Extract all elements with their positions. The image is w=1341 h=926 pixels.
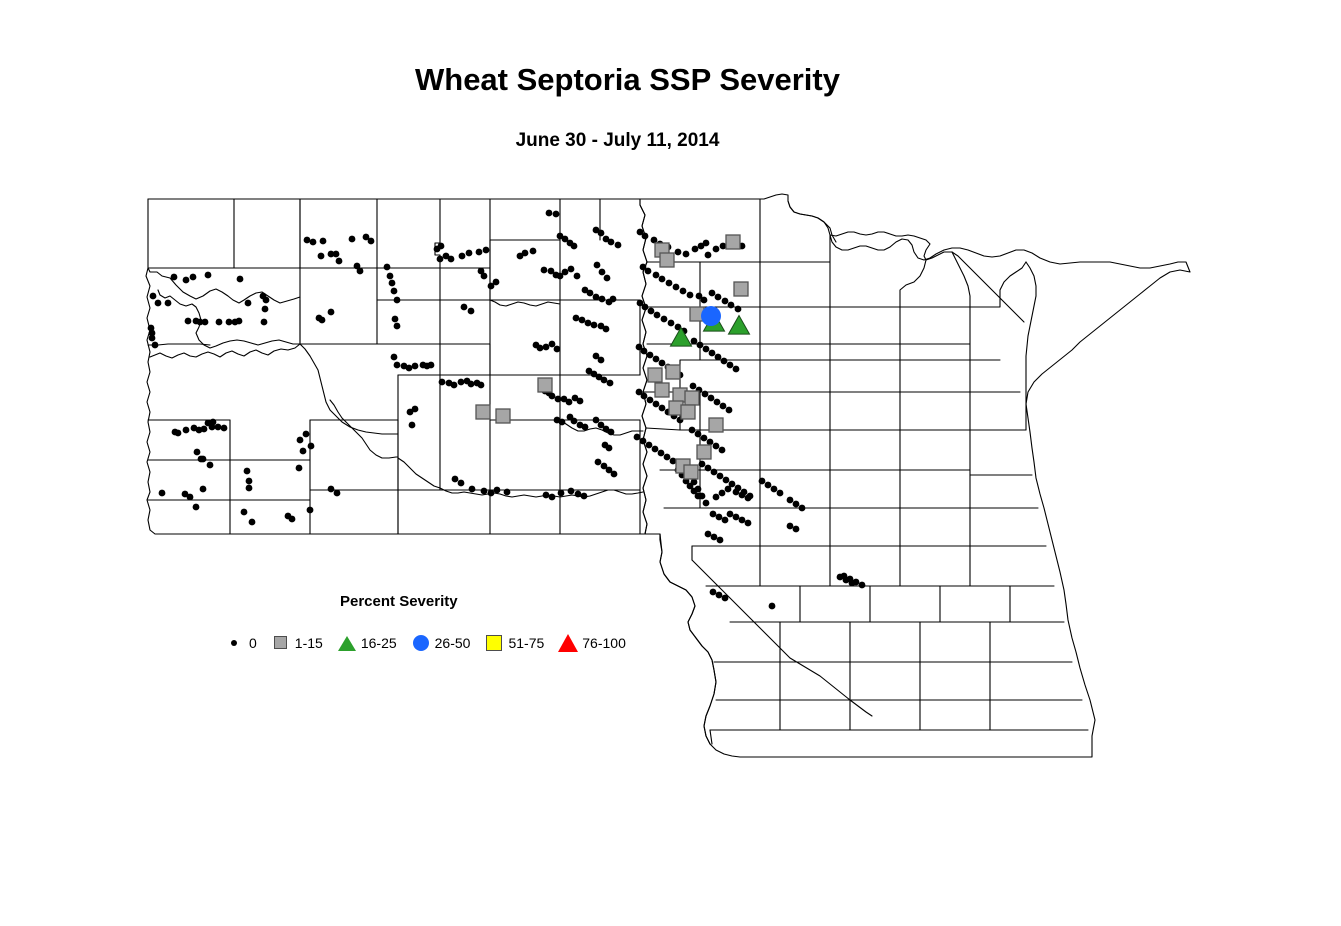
data-point-0 — [202, 319, 209, 326]
data-point-16-25 — [728, 315, 749, 334]
data-point-0 — [720, 403, 727, 410]
data-point-0 — [185, 318, 192, 325]
data-point-1-15 — [726, 235, 740, 249]
map-svg — [0, 0, 1341, 926]
data-point-0 — [328, 486, 335, 493]
data-point-0 — [715, 354, 722, 361]
data-point-0 — [493, 279, 500, 286]
data-point-0 — [593, 294, 600, 301]
data-point-0 — [599, 269, 606, 276]
data-point-0 — [691, 338, 698, 345]
data-point-0 — [647, 352, 654, 359]
data-point-0 — [615, 242, 622, 249]
data-point-0 — [728, 302, 735, 309]
data-point-0 — [559, 419, 566, 426]
data-point-0 — [389, 280, 396, 287]
data-point-0 — [175, 430, 182, 437]
data-point-0 — [711, 534, 718, 541]
data-point-0 — [319, 317, 326, 324]
data-point-0 — [695, 486, 702, 493]
data-point-0 — [384, 264, 391, 271]
data-point-0 — [793, 501, 800, 508]
legend-label-16-25: 16-25 — [361, 635, 397, 651]
data-point-0 — [568, 266, 575, 273]
data-point-1-15 — [660, 253, 674, 267]
data-point-0 — [207, 462, 214, 469]
data-point-0 — [739, 517, 746, 524]
data-point-0 — [571, 418, 578, 425]
legend-label-26-50: 26-50 — [435, 635, 471, 651]
data-point-0 — [659, 276, 666, 283]
legend-label-1-15: 1-15 — [295, 635, 323, 651]
data-point-0 — [733, 514, 740, 521]
data-point-0 — [607, 380, 614, 387]
data-point-0 — [666, 280, 673, 287]
data-point-0 — [368, 238, 375, 245]
legend-label-0: 0 — [249, 635, 257, 651]
data-point-0 — [711, 469, 718, 476]
data-point-0 — [468, 308, 475, 315]
legend-title: Percent Severity — [340, 593, 458, 610]
data-point-0 — [297, 437, 304, 444]
data-point-0 — [201, 426, 208, 433]
data-point-0 — [610, 296, 617, 303]
data-point-0 — [722, 595, 729, 602]
data-point-0 — [709, 350, 716, 357]
red-triangle-icon — [558, 633, 578, 653]
data-point-0 — [392, 316, 399, 323]
data-point-0 — [721, 358, 728, 365]
data-point-0 — [587, 290, 594, 297]
data-point-0 — [787, 523, 794, 530]
data-point-0 — [611, 471, 618, 478]
data-point-0 — [713, 494, 720, 501]
black-dot-icon — [225, 633, 245, 653]
data-point-0 — [739, 492, 746, 499]
data-point-0 — [601, 377, 608, 384]
data-point-0 — [194, 449, 201, 456]
data-point-0 — [246, 485, 253, 492]
data-point-0 — [336, 258, 343, 265]
data-point-0 — [725, 486, 732, 493]
data-point-0 — [703, 346, 710, 353]
data-point-0 — [200, 486, 207, 493]
data-point-0 — [654, 312, 661, 319]
data-point-0 — [152, 342, 159, 349]
data-point-0 — [593, 417, 600, 424]
data-point-0 — [554, 346, 561, 353]
data-point-0 — [717, 473, 724, 480]
data-point-0 — [653, 356, 660, 363]
data-point-0 — [476, 249, 483, 256]
data-point-0 — [713, 443, 720, 450]
data-point-0 — [307, 507, 314, 514]
data-point-0 — [562, 269, 569, 276]
data-point-0 — [394, 362, 401, 369]
data-point-0 — [659, 360, 666, 367]
data-point-0 — [504, 489, 511, 496]
data-point-0 — [549, 393, 556, 400]
data-point-0 — [647, 397, 654, 404]
data-point-0 — [448, 256, 455, 263]
data-point-0 — [722, 298, 729, 305]
data-point-0 — [859, 582, 866, 589]
data-point-0 — [458, 379, 465, 386]
data-point-0 — [320, 238, 327, 245]
data-point-0 — [733, 366, 740, 373]
data-point-0 — [705, 252, 712, 259]
data-point-0 — [187, 494, 194, 501]
data-point-0 — [149, 335, 156, 342]
data-point-0 — [558, 490, 565, 497]
data-point-0 — [577, 398, 584, 405]
legend-label-76-100: 76-100 — [582, 635, 626, 651]
data-point-0 — [604, 275, 611, 282]
data-point-0 — [409, 422, 416, 429]
data-point-0 — [608, 429, 615, 436]
data-point-0 — [683, 251, 690, 258]
data-point-0 — [183, 427, 190, 434]
data-point-0 — [653, 272, 660, 279]
gray-square-icon — [271, 633, 291, 653]
data-point-0 — [849, 580, 856, 587]
data-point-0 — [690, 383, 697, 390]
data-point-0 — [483, 247, 490, 254]
data-point-0 — [546, 210, 553, 217]
data-point-0 — [727, 511, 734, 518]
data-point-0 — [641, 348, 648, 355]
data-point-0 — [692, 246, 699, 253]
data-point-0 — [659, 405, 666, 412]
yellow-square-icon — [484, 633, 504, 653]
data-point-0 — [703, 500, 710, 507]
data-point-0 — [673, 284, 680, 291]
data-point-0 — [642, 304, 649, 311]
data-point-1-15 — [734, 282, 748, 296]
data-point-0 — [357, 268, 364, 275]
data-point-0 — [262, 306, 269, 313]
data-point-0 — [599, 296, 606, 303]
data-point-0 — [549, 341, 556, 348]
data-point-0 — [771, 486, 778, 493]
data-point-0 — [582, 424, 589, 431]
data-point-0 — [296, 465, 303, 472]
data-point-0 — [573, 315, 580, 322]
data-point-0 — [452, 476, 459, 483]
data-point-0 — [349, 236, 356, 243]
data-point-0 — [708, 395, 715, 402]
data-point-1-15 — [697, 445, 711, 459]
data-point-0 — [689, 427, 696, 434]
data-point-0 — [300, 448, 307, 455]
data-point-0 — [645, 268, 652, 275]
data-point-0 — [469, 486, 476, 493]
data-point-0 — [394, 297, 401, 304]
data-point-0 — [722, 517, 729, 524]
data-point-0 — [549, 494, 556, 501]
data-point-0 — [591, 322, 598, 329]
green-triangle-icon — [337, 633, 357, 653]
data-point-0 — [263, 297, 270, 304]
data-point-0 — [318, 253, 325, 260]
data-point-0 — [769, 603, 776, 610]
data-point-0 — [439, 379, 446, 386]
data-point-1-15 — [655, 383, 669, 397]
data-point-0 — [261, 319, 268, 326]
data-point-0 — [328, 309, 335, 316]
data-point-1-15 — [476, 405, 490, 419]
data-point-0 — [581, 493, 588, 500]
data-point-0 — [566, 399, 573, 406]
data-point-0 — [703, 240, 710, 247]
data-point-0 — [437, 256, 444, 263]
data-point-0 — [595, 459, 602, 466]
data-point-0 — [150, 293, 157, 300]
data-point-0 — [221, 425, 228, 432]
data-point-0 — [843, 577, 850, 584]
data-point-0 — [710, 589, 717, 596]
data-point-0 — [246, 478, 253, 485]
data-point-0 — [537, 345, 544, 352]
data-point-0 — [745, 495, 752, 502]
data-point-1-15 — [666, 365, 680, 379]
map-canvas — [0, 0, 1341, 926]
data-point-0 — [216, 319, 223, 326]
data-point-1-15 — [685, 391, 699, 405]
data-point-0 — [702, 391, 709, 398]
data-point-0 — [687, 292, 694, 299]
data-point-0 — [245, 300, 252, 307]
data-point-0 — [680, 288, 687, 295]
data-point-0 — [799, 505, 806, 512]
data-point-0 — [237, 276, 244, 283]
legend-entry-16-25[interactable]: 16-25 — [337, 633, 397, 653]
data-point-0 — [642, 233, 649, 240]
data-point-0 — [759, 478, 766, 485]
data-point-0 — [837, 574, 844, 581]
data-point-0 — [530, 248, 537, 255]
data-point-0 — [640, 438, 647, 445]
legend-label-51-75: 51-75 — [508, 635, 544, 651]
data-point-0 — [701, 435, 708, 442]
data-point-1-15 — [496, 409, 510, 423]
data-point-0 — [468, 381, 475, 388]
legend-entry-76-100[interactable]: 76-100 — [558, 633, 626, 653]
data-point-0 — [727, 362, 734, 369]
data-point-0 — [543, 344, 550, 351]
data-point-0 — [697, 342, 704, 349]
data-point-0 — [303, 431, 310, 438]
data-point-0 — [723, 477, 730, 484]
data-point-1-15 — [684, 465, 698, 479]
data-point-0 — [244, 468, 251, 475]
data-point-0 — [710, 511, 717, 518]
data-point-0 — [458, 480, 465, 487]
data-point-0 — [695, 431, 702, 438]
data-point-0 — [226, 319, 233, 326]
legend-entries: 0 1-15 16-25 26-50 51-75 76-100 — [225, 630, 640, 656]
data-point-0 — [461, 304, 468, 311]
data-point-0 — [481, 488, 488, 495]
data-point-0 — [193, 504, 200, 511]
data-point-0 — [334, 490, 341, 497]
data-point-0 — [568, 488, 575, 495]
data-point-0 — [428, 362, 435, 369]
data-point-0 — [198, 456, 205, 463]
data-point-0 — [733, 489, 740, 496]
data-point-0 — [478, 382, 485, 389]
data-point-0 — [668, 320, 675, 327]
data-point-0 — [574, 273, 581, 280]
data-point-0 — [466, 250, 473, 257]
data-point-0 — [481, 273, 488, 280]
data-point-0 — [304, 237, 311, 244]
data-point-0 — [459, 253, 466, 260]
data-point-0 — [438, 243, 445, 250]
data-point-0 — [412, 363, 419, 370]
data-point-0 — [210, 419, 217, 426]
data-point-0 — [653, 401, 660, 408]
data-point-26-50 — [701, 306, 721, 326]
data-point-0 — [715, 294, 722, 301]
data-point-0 — [236, 318, 243, 325]
data-point-1-15 — [648, 368, 662, 382]
data-point-0 — [155, 300, 162, 307]
data-point-0 — [658, 450, 665, 457]
data-point-0 — [716, 592, 723, 599]
data-point-0 — [709, 290, 716, 297]
data-point-0 — [634, 434, 641, 441]
data-point-0 — [675, 249, 682, 256]
blue-circle-icon — [411, 633, 431, 653]
data-point-1-15 — [681, 405, 695, 419]
legend-entry-51-75[interactable]: 51-75 — [484, 633, 544, 653]
data-point-0 — [391, 354, 398, 361]
data-point-0 — [171, 274, 178, 281]
data-point-0 — [205, 272, 212, 279]
data-point-0 — [183, 277, 190, 284]
data-point-0 — [522, 250, 529, 257]
data-point-0 — [333, 251, 340, 258]
data-point-0 — [603, 326, 610, 333]
data-point-0 — [765, 482, 772, 489]
data-point-0 — [705, 531, 712, 538]
data-point-0 — [641, 393, 648, 400]
data-point-0 — [714, 399, 721, 406]
data-point-0 — [488, 490, 495, 497]
data-point-0 — [451, 382, 458, 389]
data-point-0 — [215, 424, 222, 431]
data-point-0 — [543, 492, 550, 499]
data-point-0 — [394, 323, 401, 330]
data-point-0 — [713, 246, 720, 253]
data-point-0 — [575, 491, 582, 498]
data-point-0 — [494, 487, 501, 494]
data-point-0 — [793, 526, 800, 533]
data-point-0 — [646, 442, 653, 449]
data-point-0 — [648, 308, 655, 315]
data-point-0 — [585, 320, 592, 327]
data-point-0 — [406, 365, 413, 372]
data-points-severity-26-50 — [701, 306, 721, 326]
data-point-0 — [719, 447, 726, 454]
data-point-0 — [716, 514, 723, 521]
data-point-0 — [412, 406, 419, 413]
data-point-0 — [719, 490, 726, 497]
data-point-0 — [661, 316, 668, 323]
data-point-0 — [606, 445, 613, 452]
legend-entry-0[interactable]: 0 — [225, 633, 257, 653]
data-point-0 — [608, 239, 615, 246]
data-point-0 — [310, 239, 317, 246]
data-point-0 — [190, 274, 197, 281]
data-point-0 — [579, 317, 586, 324]
map-legend: Percent Severity 0 1-15 16-25 26-50 51-7… — [225, 590, 645, 670]
data-point-0 — [289, 516, 296, 523]
legend-entry-26-50[interactable]: 26-50 — [411, 633, 471, 653]
data-point-0 — [541, 267, 548, 274]
data-point-0 — [705, 465, 712, 472]
data-point-0 — [777, 490, 784, 497]
data-point-0 — [391, 288, 398, 295]
data-point-16-25 — [670, 327, 691, 346]
data-point-0 — [699, 461, 706, 468]
legend-entry-1-15[interactable]: 1-15 — [271, 633, 323, 653]
data-point-0 — [699, 493, 706, 500]
data-point-0 — [165, 300, 172, 307]
data-point-0 — [555, 396, 562, 403]
county-boundaries — [146, 194, 1190, 757]
data-point-0 — [553, 211, 560, 218]
data-point-0 — [159, 490, 166, 497]
data-point-0 — [735, 306, 742, 313]
data-point-0 — [594, 262, 601, 269]
data-point-0 — [745, 520, 752, 527]
data-point-0 — [571, 243, 578, 250]
data-point-1-15 — [709, 418, 723, 432]
data-point-0 — [308, 443, 315, 450]
data-point-0 — [249, 519, 256, 526]
data-point-0 — [726, 407, 733, 414]
map-page: Wheat Septoria SSP Severity June 30 - Ju… — [0, 0, 1341, 926]
data-point-0 — [241, 509, 248, 516]
data-point-0 — [387, 273, 394, 280]
data-point-0 — [598, 230, 605, 237]
data-point-0 — [701, 297, 708, 304]
data-point-0 — [787, 497, 794, 504]
data-point-0 — [598, 357, 605, 364]
data-point-1-15 — [538, 378, 552, 392]
data-point-0 — [652, 446, 659, 453]
data-point-0 — [664, 454, 671, 461]
data-point-0 — [717, 537, 724, 544]
